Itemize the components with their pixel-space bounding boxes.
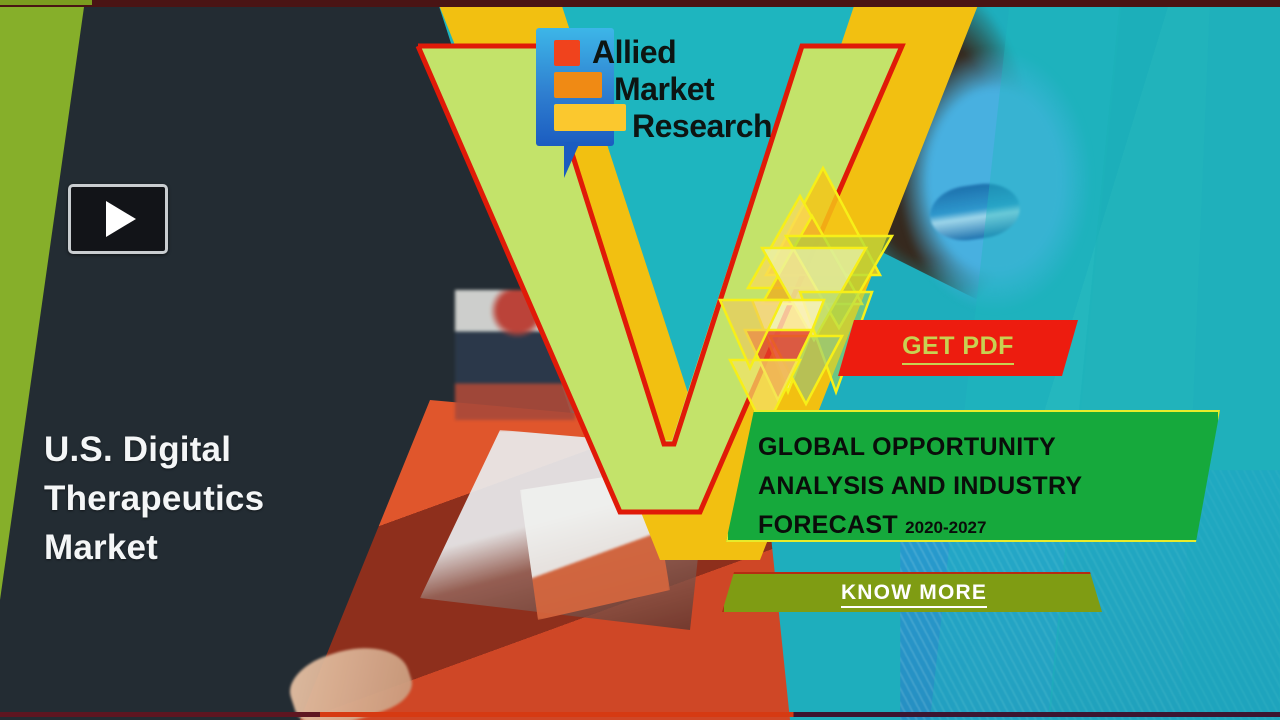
- forecast-line-3-text: FORECAST: [758, 511, 898, 539]
- logo-line-2: Market: [592, 71, 852, 108]
- top-olive-accent-line: [0, 0, 92, 5]
- get-pdf-label: GET PDF: [902, 332, 1014, 365]
- bottom-accent-line: [0, 712, 1280, 717]
- get-pdf-button[interactable]: GET PDF: [838, 320, 1078, 376]
- logo-line-1: Allied: [592, 34, 852, 71]
- forecast-line-1: GLOBAL OPPORTUNITY: [758, 428, 1218, 467]
- know-more-label: KNOW MORE: [841, 581, 987, 608]
- forecast-years: 2020-2027: [905, 518, 986, 537]
- logo-wordmark: Allied Market Research: [592, 34, 852, 145]
- forecast-line-2: ANALYSIS AND INDUSTRY: [758, 467, 1218, 506]
- speech-bubble-tail-icon: [564, 142, 580, 178]
- promo-slide: U.S. Digital Therapeutics Market Allied …: [0, 0, 1280, 720]
- play-button[interactable]: [68, 184, 168, 254]
- logo-line-3: Research: [592, 108, 852, 145]
- allied-market-research-logo[interactable]: Allied Market Research: [536, 20, 806, 170]
- page-title: U.S. Digital Therapeutics Market: [44, 425, 374, 572]
- know-more-button[interactable]: KNOW MORE: [722, 572, 1106, 616]
- forecast-panel: GLOBAL OPPORTUNITY ANALYSIS AND INDUSTRY…: [726, 410, 1220, 542]
- play-triangle-icon: [106, 201, 136, 237]
- logo-bar-red: [554, 40, 580, 66]
- top-accent-line: [0, 0, 1280, 7]
- forecast-line-3: FORECAST 2020-2027: [758, 506, 1218, 547]
